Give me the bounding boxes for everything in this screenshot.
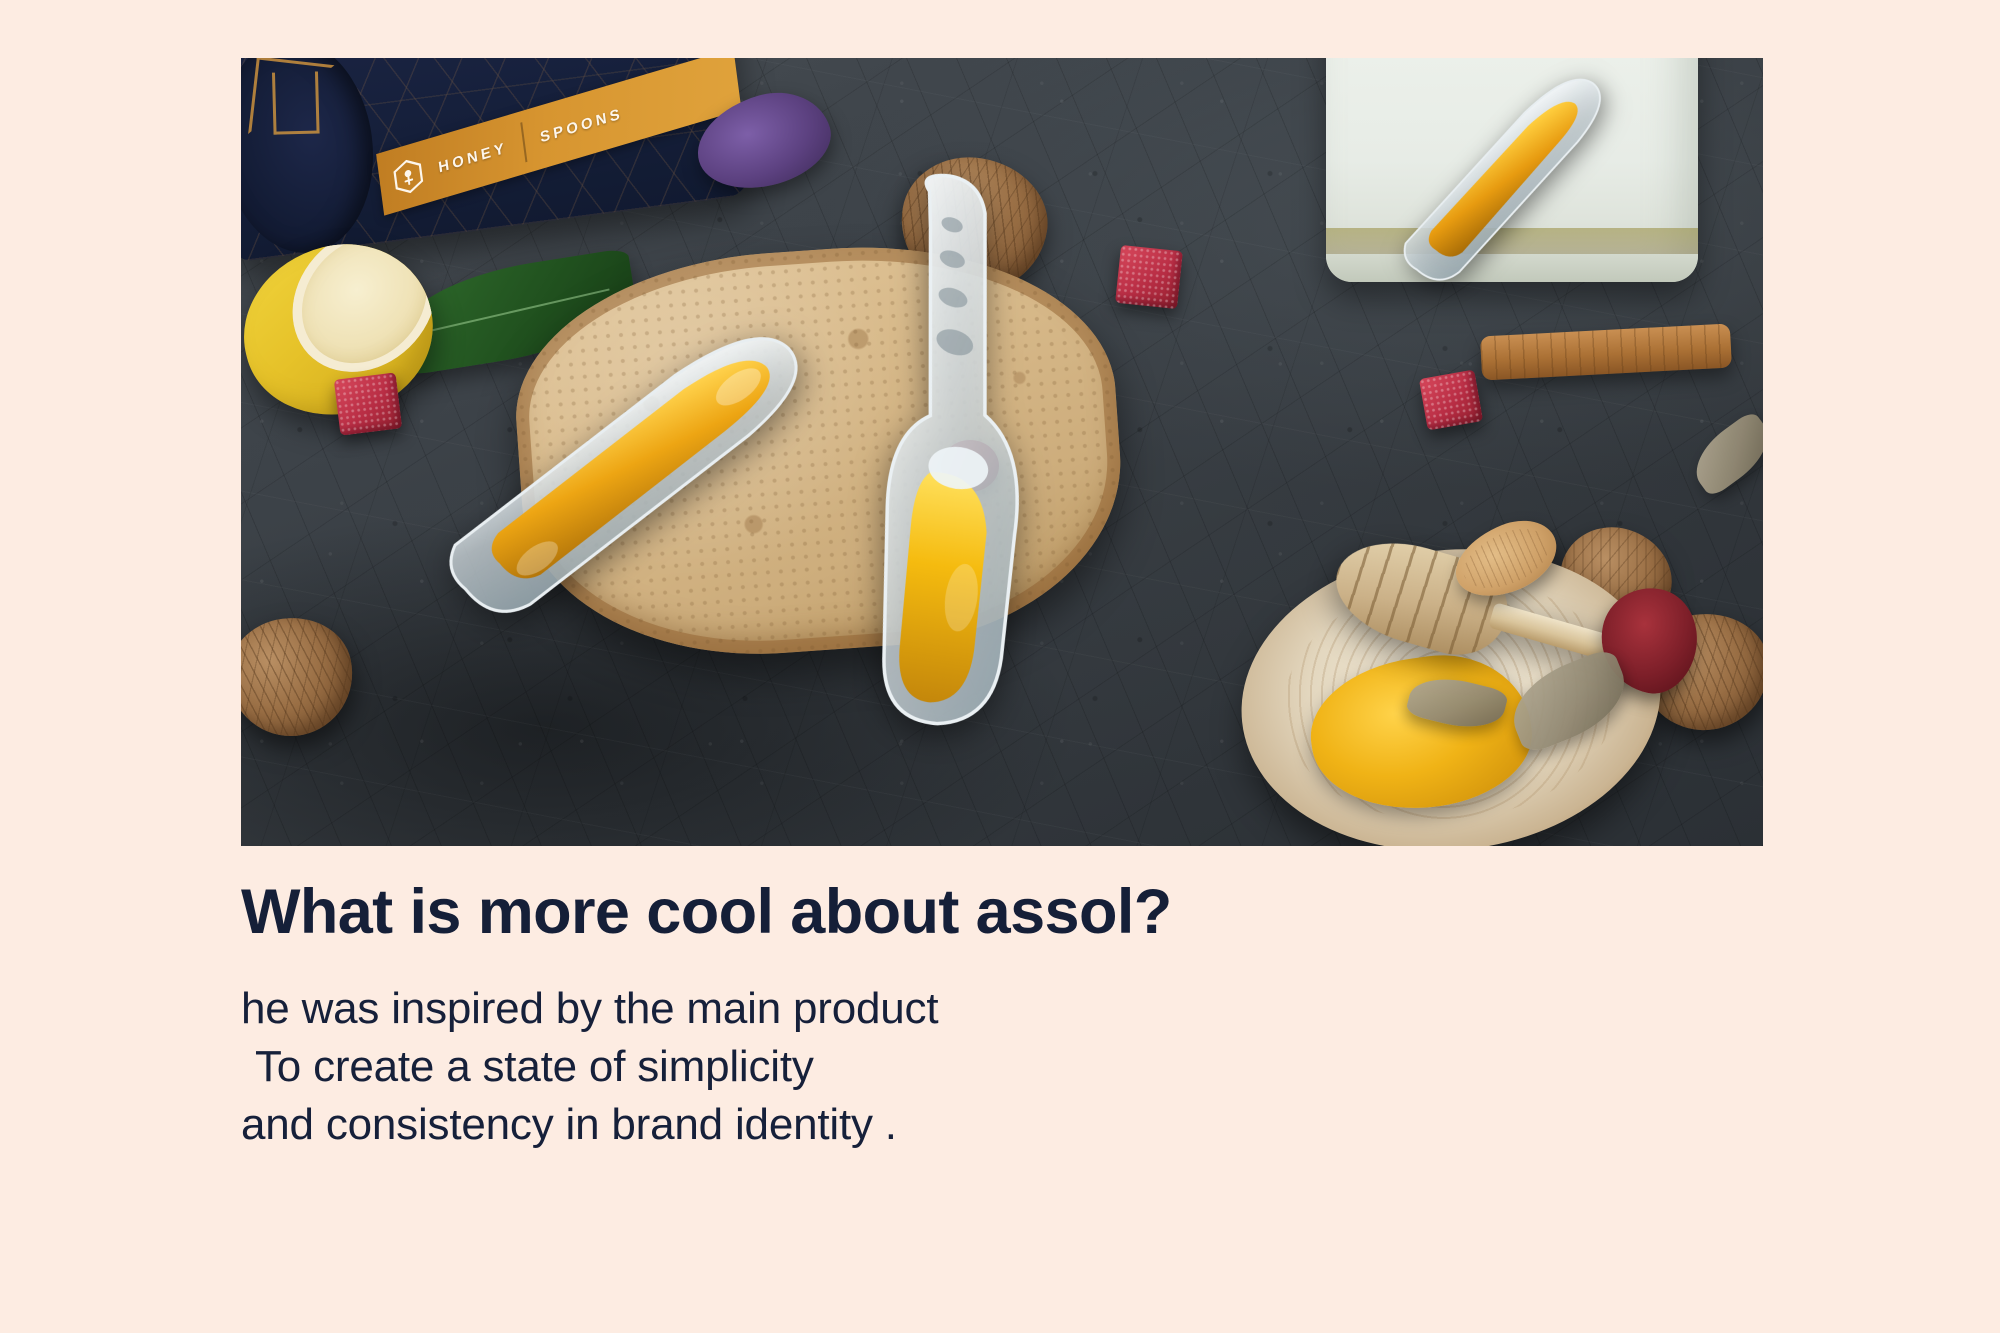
package-logo-mark-secondary (272, 71, 320, 134)
body-line-3: and consistency in brand identity . (241, 1096, 1541, 1154)
honeycomb-hex-icon (392, 155, 426, 197)
hero-photo: HONEY SPOONS (241, 58, 1763, 846)
red-sugar-cube (1419, 370, 1483, 431)
body-line-2: To create a state of simplicity (241, 1038, 1541, 1096)
copy-block: What is more cool about assol? he was in… (241, 880, 1541, 1154)
package-band-separator (520, 122, 527, 162)
body-copy: he was inspired by the main product To c… (241, 980, 1541, 1154)
slide-canvas: HONEY SPOONS (0, 0, 2000, 1333)
page-title: What is more cool about assol? (241, 880, 1541, 946)
milk-jar-base (1326, 254, 1698, 282)
package-brand-honey: HONEY (437, 139, 508, 176)
body-line-1: he was inspired by the main product (241, 980, 1541, 1038)
package-brand-spoons: SPOONS (539, 105, 624, 146)
red-sugar-cube (1115, 245, 1183, 309)
red-sugar-cube (334, 372, 402, 435)
